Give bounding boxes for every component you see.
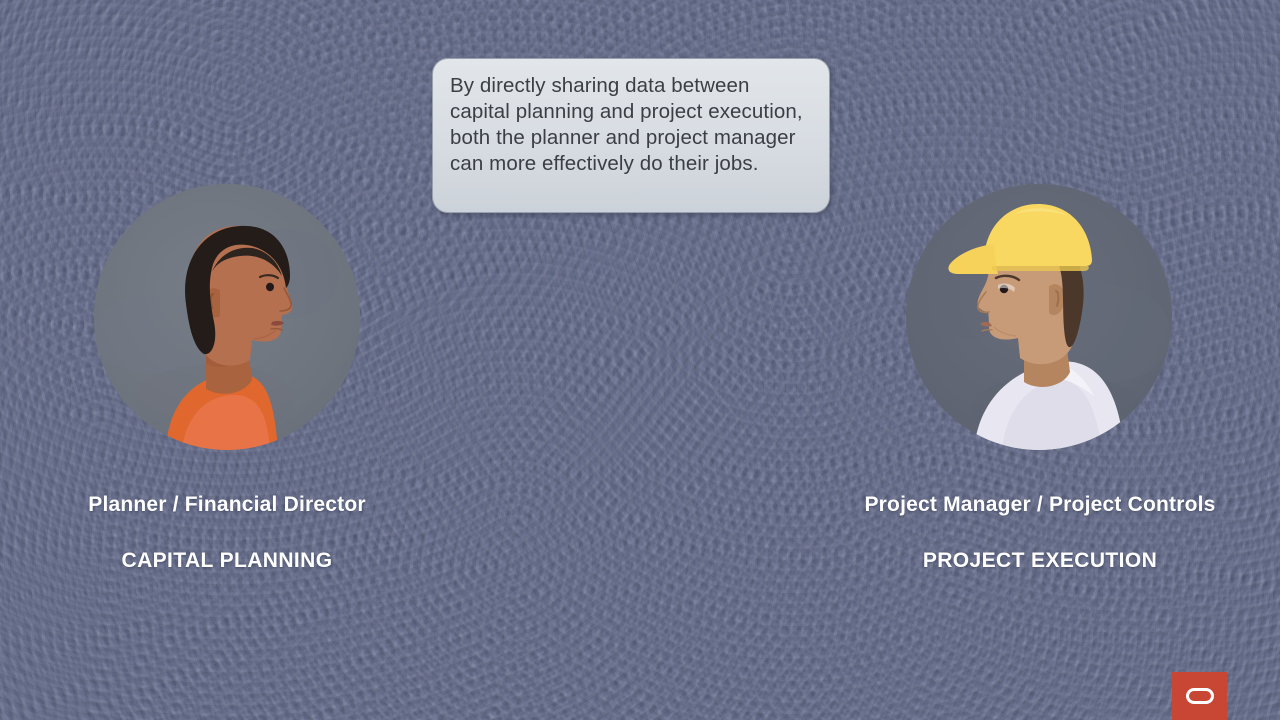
planner-portrait-icon bbox=[94, 184, 360, 450]
speech-bubble-text: By directly sharing data between capital… bbox=[450, 73, 813, 177]
oracle-logo bbox=[1172, 672, 1227, 720]
project-manager-portrait-icon bbox=[906, 184, 1172, 450]
planner-department-label: CAPITAL PLANNING bbox=[27, 548, 427, 574]
slide-canvas: By directly sharing data between capital… bbox=[0, 0, 1280, 720]
project-manager-department-label: PROJECT EXECUTION bbox=[840, 548, 1240, 574]
speech-bubble: By directly sharing data between capital… bbox=[432, 58, 830, 213]
project-manager-role-label: Project Manager / Project Controls bbox=[840, 492, 1240, 518]
project-manager-caption: Project Manager / Project Controls PROJE… bbox=[840, 492, 1240, 574]
oracle-o-mark-icon bbox=[1186, 688, 1214, 704]
planner-role-label: Planner / Financial Director bbox=[27, 492, 427, 518]
planner-caption: Planner / Financial Director CAPITAL PLA… bbox=[27, 492, 427, 574]
